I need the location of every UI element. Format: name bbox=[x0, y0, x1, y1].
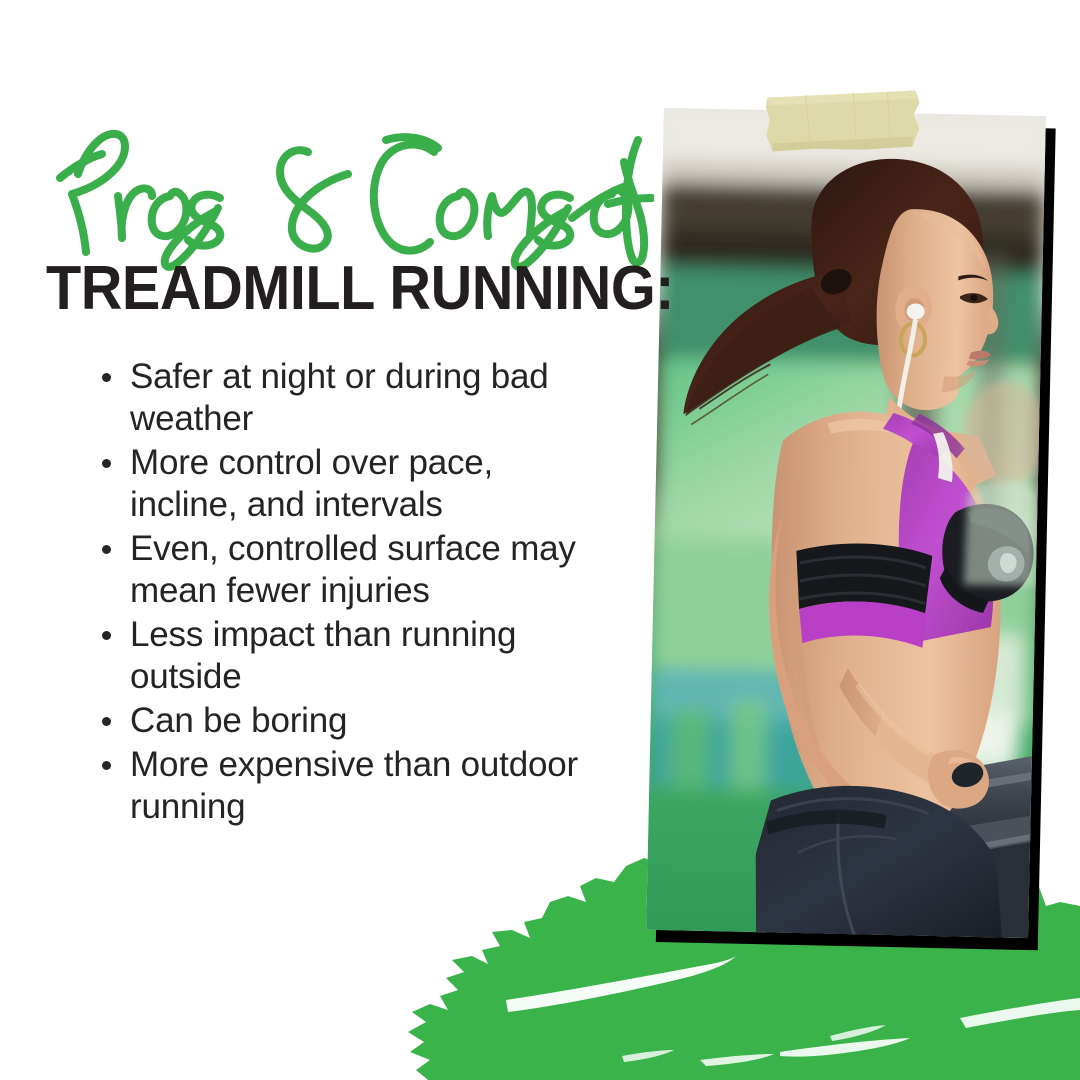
masking-tape-icon bbox=[765, 88, 920, 153]
bullet-dot-icon bbox=[102, 631, 111, 640]
script-title bbox=[42, 112, 654, 272]
list-item-label: More control over pace, incline, and int… bbox=[130, 443, 493, 524]
poster-canvas: TREADMILL RUNNING: Safer at night or dur… bbox=[0, 0, 1080, 1080]
text-column: TREADMILL RUNNING: Safer at night or dur… bbox=[0, 0, 660, 1080]
bullet-dot-icon bbox=[102, 545, 111, 554]
treadmill-photo-card bbox=[646, 108, 1046, 938]
list-item-label: Safer at night or during bad weather bbox=[130, 357, 549, 438]
list-item: More control over pace, incline, and int… bbox=[88, 442, 608, 526]
list-item: Even, controlled surface may mean fewer … bbox=[88, 528, 608, 612]
list-item-label: More expensive than outdoor running bbox=[130, 745, 578, 826]
list-item: Safer at night or during bad weather bbox=[88, 356, 608, 440]
list-item: More expensive than outdoor running bbox=[88, 744, 608, 828]
pros-cons-list: Safer at night or during bad weather Mor… bbox=[88, 356, 608, 830]
list-item-label: Can be boring bbox=[130, 701, 347, 740]
list-item-label: Less impact than running outside bbox=[130, 615, 516, 696]
list-item-label: Even, controlled surface may mean fewer … bbox=[130, 529, 576, 610]
bullet-dot-icon bbox=[102, 761, 111, 770]
bullet-dot-icon bbox=[102, 717, 111, 726]
bullet-dot-icon bbox=[102, 373, 111, 382]
list-item: Less impact than running outside bbox=[88, 614, 608, 698]
bullet-dot-icon bbox=[102, 459, 111, 468]
page-title: TREADMILL RUNNING: bbox=[46, 258, 615, 320]
treadmill-photo bbox=[646, 108, 1046, 938]
list-item: Can be boring bbox=[88, 700, 608, 742]
